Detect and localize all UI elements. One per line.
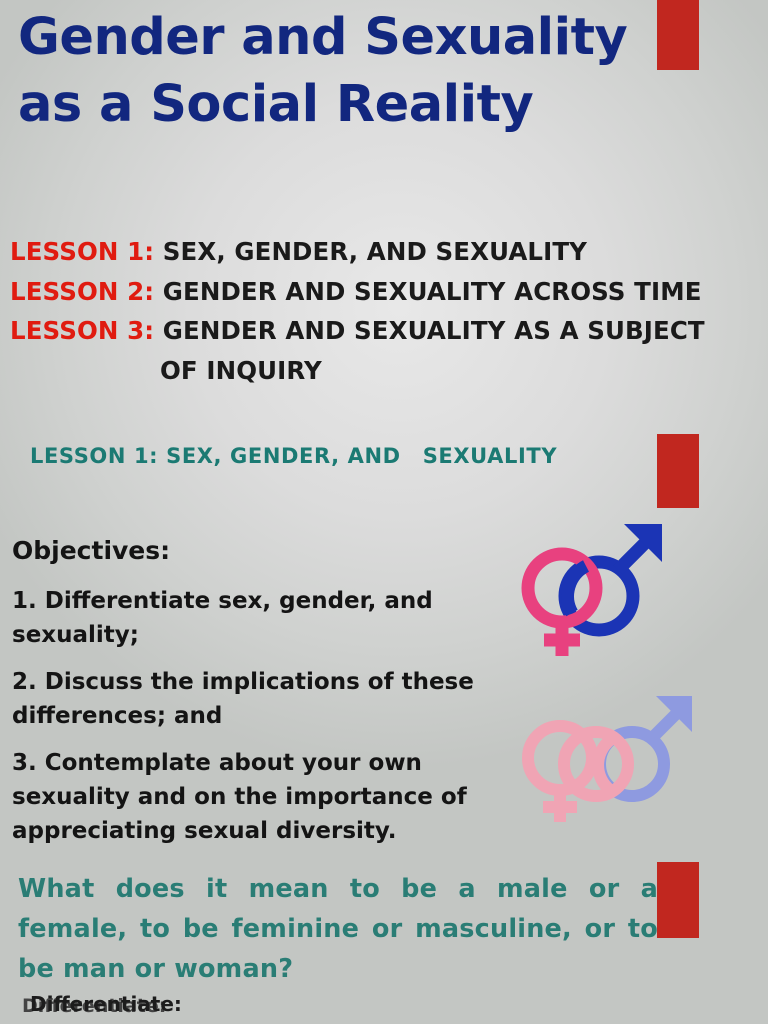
objective-item-3: 3. Contemplate about your own sexuality … — [12, 746, 482, 848]
lesson-3-label-b: OF INQUIRY — [160, 356, 322, 385]
lesson-2-key: LESSON 2: — [10, 277, 154, 306]
slide-3: What does it mean to be a male or a fema… — [0, 864, 768, 1024]
lesson-item-1: LESSON 1: SEX, GENDER, AND SEXUALITY — [10, 232, 762, 272]
slide-2: LESSON 1: SEX, GENDER, ANDSEXUALITY Obje… — [0, 436, 768, 864]
objective-item-1: 1. Differentiate sex, gender, and sexual… — [12, 584, 482, 652]
male-female-interlocked-symbol — [494, 518, 684, 658]
differentiate-label: Differentiate: — [30, 992, 182, 1016]
lesson-3-label-a: GENDER AND SEXUALITY AS A SUBJECT — [163, 316, 705, 345]
slide-2-header-right: SEXUALITY — [423, 444, 557, 468]
lesson-3-key: LESSON 3: — [10, 316, 154, 345]
objective-item-2: 2. Discuss the implications of these dif… — [12, 665, 482, 733]
lesson-item-2: LESSON 2: GENDER AND SEXUALITY ACROSS TI… — [10, 272, 762, 312]
page-title: Gender and Sexuality as a Social Reality — [18, 4, 638, 139]
discussion-question: What does it mean to be a male or a fema… — [18, 870, 658, 989]
objectives-heading: Objectives: — [12, 536, 170, 565]
objectives-list: 1. Differentiate sex, gender, and sexual… — [12, 584, 482, 861]
slide-1: Gender and Sexuality as a Social Reality… — [0, 0, 768, 436]
slide-2-header-left: LESSON 1: SEX, GENDER, AND — [30, 444, 401, 468]
lesson-item-3: LESSON 3: GENDER AND SEXUALITY AS A SUBJ… — [10, 311, 762, 390]
male-symbol-light-blue — [600, 696, 692, 796]
lesson-1-key: LESSON 1: — [10, 237, 154, 266]
lesson-list: LESSON 1: SEX, GENDER, AND SEXUALITY LES… — [10, 232, 762, 391]
male-female-double-interlocked-symbol — [500, 668, 715, 828]
slide-2-header: LESSON 1: SEX, GENDER, ANDSEXUALITY — [30, 444, 557, 468]
lesson-1-label: SEX, GENDER, AND SEXUALITY — [163, 237, 587, 266]
lesson-2-label: GENDER AND SEXUALITY ACROSS TIME — [163, 277, 702, 306]
presentation-page: Gender and Sexuality as a Social Reality… — [0, 0, 768, 1024]
